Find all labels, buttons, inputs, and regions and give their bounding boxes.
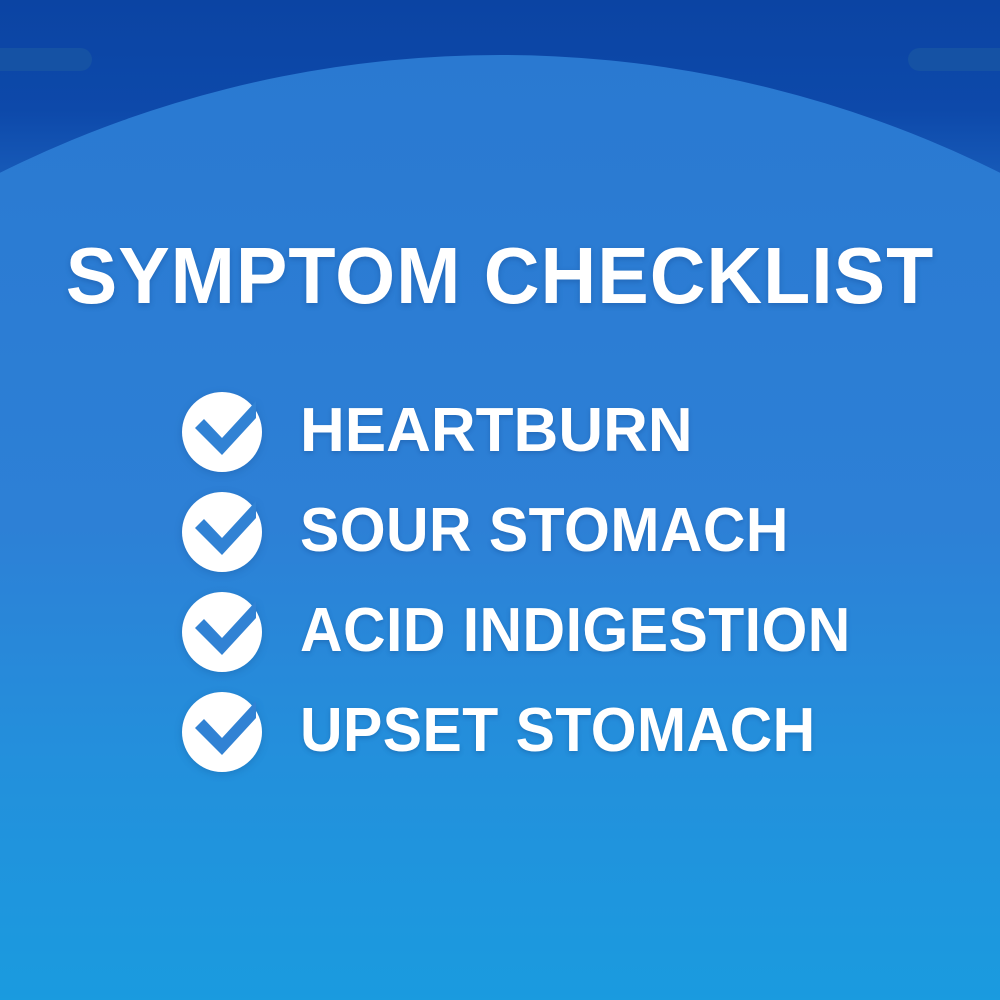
check-circle-icon: [182, 492, 262, 572]
list-item-label: ACID INDIGESTION: [300, 600, 851, 662]
list-item-label: HEARTBURN: [300, 400, 693, 462]
symptom-checklist-graphic: SYMPTOM CHECKLIST HEARTBURN: [0, 0, 1000, 1000]
page-title: SYMPTOM CHECKLIST: [18, 236, 983, 316]
list-item[interactable]: UPSET STOMACH: [182, 682, 982, 782]
check-circle-icon: [182, 692, 262, 772]
list-item-label: UPSET STOMACH: [300, 700, 816, 762]
list-item[interactable]: ACID INDIGESTION: [182, 582, 982, 682]
list-item[interactable]: SOUR STOMACH: [182, 482, 982, 582]
list-item[interactable]: HEARTBURN: [182, 382, 982, 482]
checklist: HEARTBURN SOUR STOMACH: [182, 382, 982, 782]
check-circle-icon: [182, 592, 262, 672]
check-circle-icon: [182, 392, 262, 472]
content-area: SYMPTOM CHECKLIST HEARTBURN: [0, 0, 1000, 1000]
list-item-label: SOUR STOMACH: [300, 500, 789, 562]
